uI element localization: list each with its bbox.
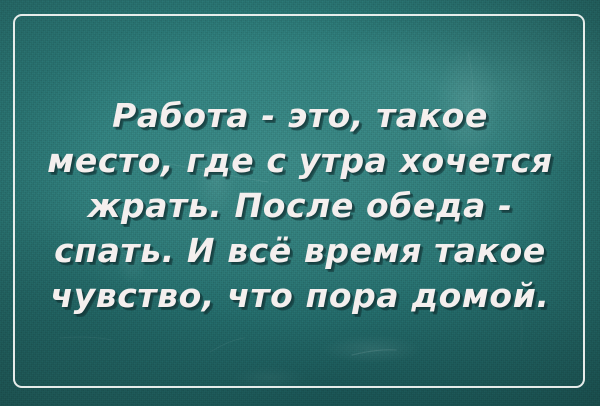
quote-text-block: Работа - это, такое место, где с утра хо…	[0, 0, 600, 406]
quote-line: жрать. После обеда -	[88, 183, 513, 228]
quote-line: Работа - это, такое	[112, 93, 488, 138]
quote-line: чувство, что пора домой.	[50, 273, 549, 318]
quote-line: место, где с утра хочется	[47, 138, 552, 183]
quote-line: спать. И всё время такое	[54, 228, 546, 273]
quote-card: Работа - это, такое место, где с утра хо…	[0, 0, 600, 406]
